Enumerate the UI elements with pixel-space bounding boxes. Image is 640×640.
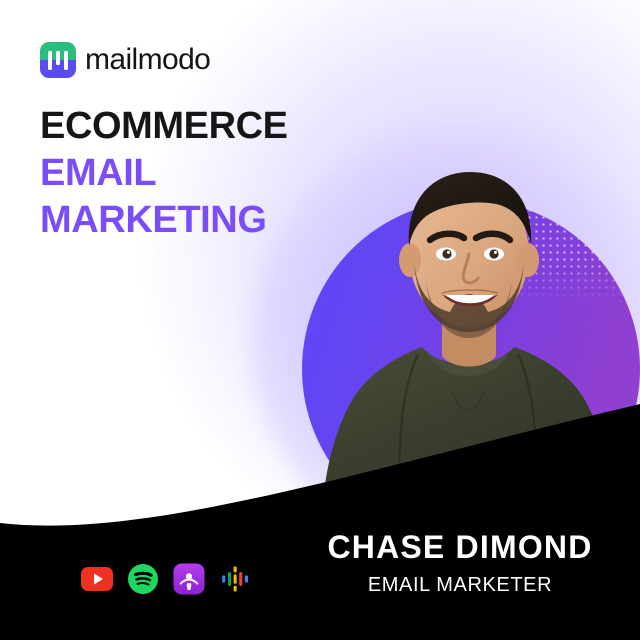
headline-line-3: MARKETING	[40, 197, 370, 244]
social-links	[78, 560, 254, 598]
youtube-icon[interactable]	[78, 560, 116, 598]
brand-name: mailmodo	[85, 45, 210, 75]
speaker-role: EMAIL MARKETER	[300, 574, 620, 596]
brand-logo[interactable]: mailmodo	[40, 42, 210, 78]
google-podcasts-icon[interactable]	[216, 560, 254, 598]
speaker-info: CHASE DIMOND EMAIL MARKETER	[300, 530, 620, 596]
promo-poster: mailmodo ECOMMERCE EMAIL MARKETING	[0, 0, 640, 640]
speaker-name: CHASE DIMOND	[300, 530, 620, 565]
headline-line-1: ECOMMERCE	[40, 103, 370, 150]
spotify-icon[interactable]	[124, 560, 162, 598]
headline-line-2: EMAIL	[40, 150, 370, 197]
apple-podcasts-icon[interactable]	[170, 560, 208, 598]
mailmodo-logo-icon	[40, 42, 76, 78]
page-title: ECOMMERCE EMAIL MARKETING	[40, 103, 370, 244]
